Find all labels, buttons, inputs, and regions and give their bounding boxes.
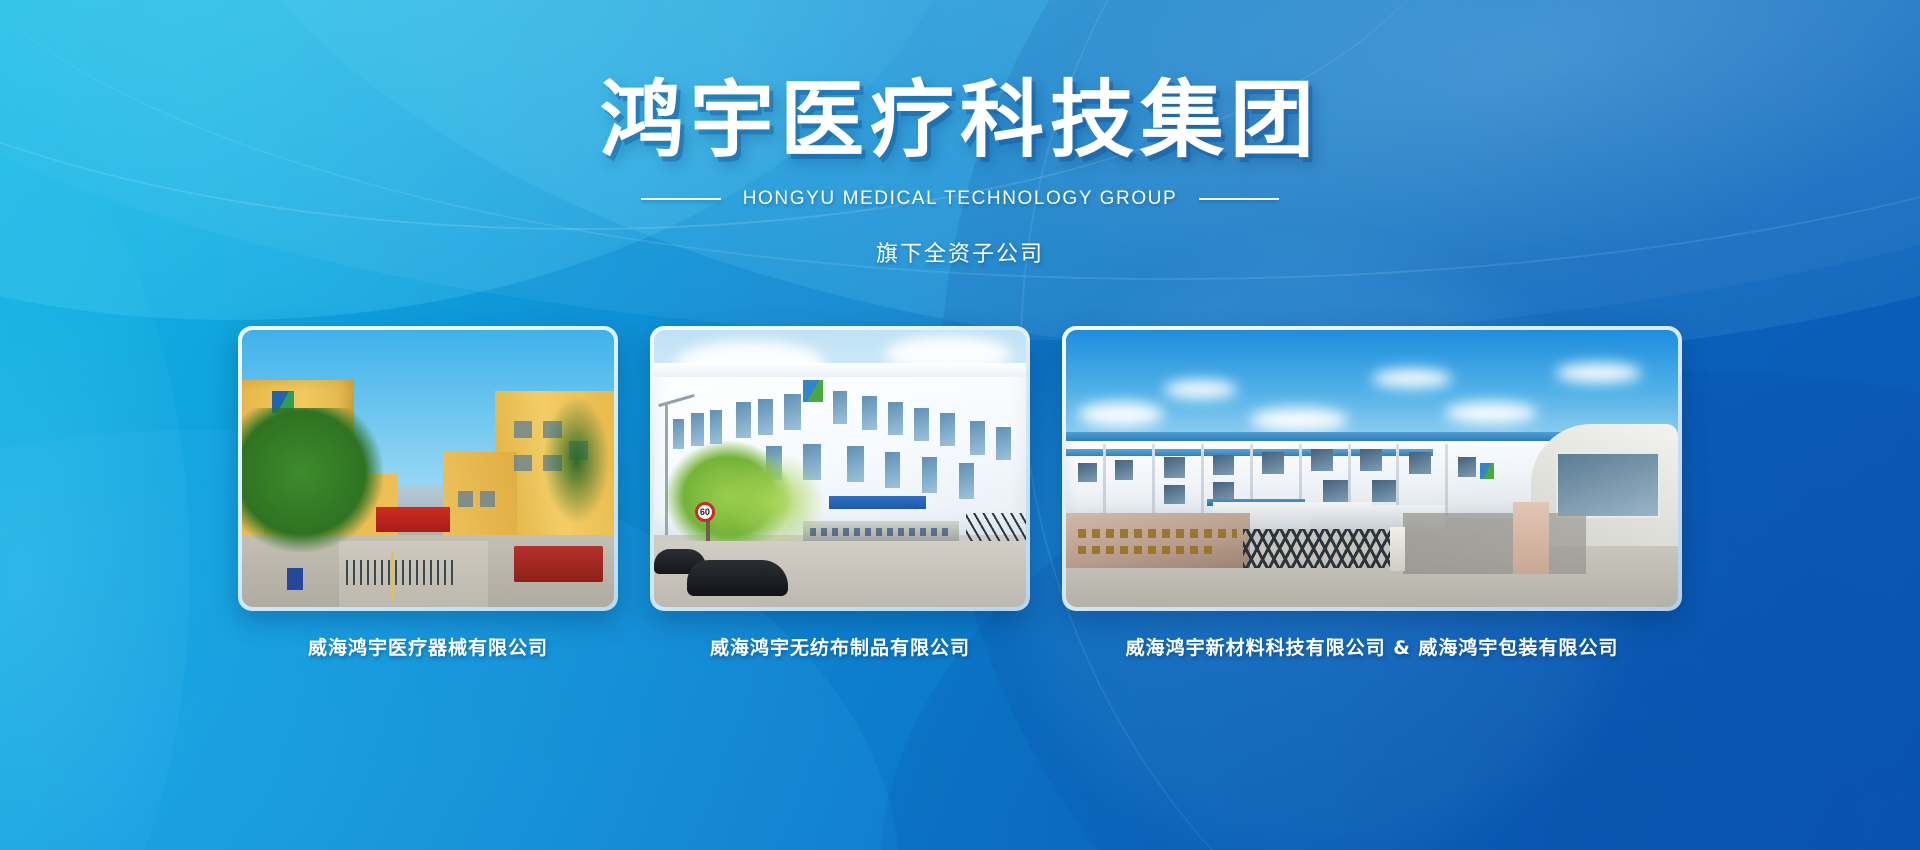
banner-header: 鸿宇医疗科技集团 HONGYU MEDICAL TECHNOLOGY GROUP… bbox=[0, 78, 1920, 268]
window bbox=[996, 427, 1011, 460]
company-group-banner: 鸿宇医疗科技集团 HONGYU MEDICAL TECHNOLOGY GROUP… bbox=[0, 0, 1920, 850]
blue-bin bbox=[287, 568, 303, 590]
pine-tree-right bbox=[543, 396, 610, 523]
window bbox=[1262, 452, 1284, 474]
entry-gate-fence bbox=[346, 560, 458, 585]
company-logo-icon bbox=[1480, 463, 1494, 479]
window bbox=[1078, 463, 1096, 482]
signboard-text-line-2 bbox=[1078, 546, 1213, 554]
window bbox=[784, 394, 801, 430]
window bbox=[922, 457, 937, 493]
green-tree-mid bbox=[728, 452, 825, 552]
subsidiary-caption: 威海鸿宇医疗器械有限公司 bbox=[238, 633, 618, 660]
window bbox=[940, 413, 955, 446]
subsidiary-caption: 威海鸿宇无纺布制品有限公司 bbox=[650, 633, 1030, 660]
decorative-rule-left bbox=[641, 198, 721, 200]
window bbox=[1115, 460, 1133, 479]
window bbox=[1372, 480, 1396, 502]
window bbox=[758, 399, 773, 435]
cloud bbox=[1372, 369, 1452, 388]
red-banner-wall bbox=[376, 507, 450, 532]
subsidiary-photo-1 bbox=[242, 330, 614, 607]
window bbox=[959, 463, 974, 499]
photo-frame bbox=[238, 326, 618, 611]
cloud bbox=[1078, 402, 1164, 427]
window bbox=[1311, 449, 1333, 471]
decorative-rule-right bbox=[1199, 198, 1279, 200]
window bbox=[514, 421, 533, 438]
page-title: 鸿宇医疗科技集团 bbox=[0, 78, 1920, 162]
column bbox=[1201, 444, 1204, 516]
cloud bbox=[1250, 408, 1348, 433]
window bbox=[1213, 455, 1234, 476]
window bbox=[833, 391, 848, 424]
window bbox=[710, 410, 723, 443]
window bbox=[1323, 480, 1347, 502]
column bbox=[1445, 444, 1448, 516]
window bbox=[736, 402, 751, 438]
red-company-signboard bbox=[514, 546, 603, 582]
gate-control-box bbox=[1390, 527, 1405, 571]
sign-wall-text bbox=[810, 528, 951, 536]
foreground-tree bbox=[242, 408, 383, 552]
roof-band bbox=[654, 363, 1026, 377]
window bbox=[847, 446, 864, 482]
blue-roof bbox=[1066, 432, 1568, 441]
window bbox=[1164, 485, 1185, 504]
column bbox=[1152, 444, 1155, 516]
window bbox=[914, 408, 929, 441]
driveway bbox=[1403, 513, 1587, 574]
subsidiary-card[interactable]: 威海鸿宇新材料科技有限公司 & 威海鸿宇包装有限公司 bbox=[1062, 326, 1682, 660]
retractable-gate bbox=[1243, 529, 1402, 568]
window bbox=[885, 452, 900, 488]
english-subtitle: HONGYU MEDICAL TECHNOLOGY GROUP bbox=[743, 188, 1178, 210]
english-subtitle-row: HONGYU MEDICAL TECHNOLOGY GROUP bbox=[0, 188, 1920, 210]
signboard-text-line-1 bbox=[1078, 529, 1237, 537]
cloud bbox=[1556, 363, 1642, 382]
subsidiary-photo-3 bbox=[1066, 330, 1678, 607]
stone-pillar bbox=[1513, 502, 1550, 574]
window bbox=[888, 402, 903, 435]
chinese-subtitle: 旗下全资子公司 bbox=[0, 236, 1920, 268]
subsidiary-photo-2: 60 bbox=[654, 330, 1026, 607]
photo-frame: 60 bbox=[650, 326, 1030, 611]
window bbox=[1360, 449, 1382, 471]
window bbox=[970, 421, 985, 454]
column bbox=[1103, 444, 1106, 516]
parked-car bbox=[687, 560, 787, 596]
stone-signboard bbox=[1066, 513, 1250, 568]
window bbox=[514, 455, 533, 472]
speed-limit-sign: 60 bbox=[695, 502, 715, 522]
blue-awning bbox=[829, 496, 926, 508]
window bbox=[480, 491, 495, 508]
window bbox=[458, 491, 473, 508]
subsidiary-caption: 威海鸿宇新材料科技有限公司 & 威海鸿宇包装有限公司 bbox=[1062, 633, 1682, 660]
guard-house-window bbox=[1556, 452, 1660, 518]
subsidiary-card[interactable]: 威海鸿宇医疗器械有限公司 bbox=[238, 326, 618, 660]
window bbox=[862, 396, 877, 429]
window bbox=[1409, 452, 1431, 474]
subsidiary-card-row: 威海鸿宇医疗器械有限公司 bbox=[0, 326, 1920, 660]
window bbox=[1164, 457, 1185, 478]
subsidiary-card[interactable]: 60 威海鸿宇无纺布制品有限公司 bbox=[650, 326, 1030, 660]
photo-frame bbox=[1062, 326, 1682, 611]
window bbox=[1458, 457, 1476, 476]
company-logo-icon bbox=[803, 380, 823, 402]
